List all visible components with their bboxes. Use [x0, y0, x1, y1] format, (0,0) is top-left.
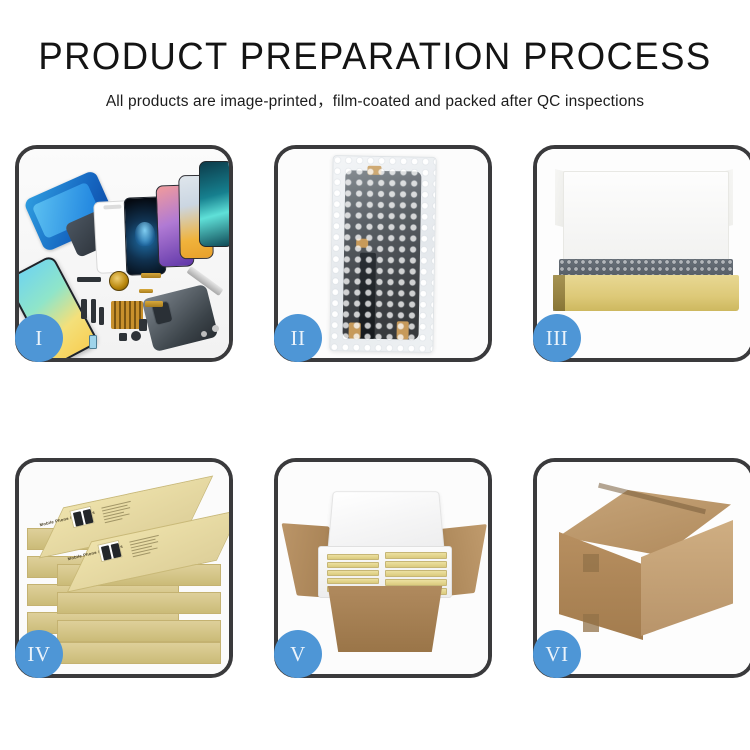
box-stack: Mobile Phone Spare Parts Mobile Phone Sp…	[27, 480, 223, 662]
spare-glass-piece	[89, 335, 97, 349]
spare-sim-tray	[139, 319, 147, 331]
teal-gradient-phone	[199, 161, 229, 247]
kraft-box-item	[327, 562, 379, 568]
step-badge-6: VI	[533, 630, 581, 678]
gold-tab	[349, 322, 361, 338]
process-step-panel-4[interactable]: Mobile Phone Spare Parts Mobile Phone Sp…	[15, 458, 233, 678]
spare-connector	[145, 301, 163, 307]
kraft-box-base	[553, 275, 739, 311]
page-subtitle: All products are image-printed，film-coat…	[0, 89, 750, 111]
speaker-coil-part	[109, 271, 129, 291]
bubble-wrap-bag	[329, 155, 436, 353]
screw-part	[201, 331, 207, 337]
page-title: PRODUCT PREPARATION PROCESS	[15, 38, 735, 78]
kraft-box-item	[327, 578, 379, 584]
step-badge-3: III	[533, 314, 581, 362]
stacked-box-edge	[57, 620, 221, 642]
spare-flex-cable	[91, 299, 96, 323]
kraft-box-item	[385, 552, 447, 559]
stacked-box-edge	[57, 642, 221, 664]
spare-flex-cable	[81, 299, 87, 319]
kraft-box-item	[327, 570, 379, 576]
gold-tab	[356, 238, 368, 247]
carton-tape-mark	[583, 614, 599, 632]
kraft-box-item	[385, 579, 447, 586]
process-step-panel-6[interactable]: VI	[533, 458, 750, 678]
step-badge-5: V	[274, 630, 322, 678]
spare-camera	[131, 331, 141, 341]
carton-tape-mark	[583, 554, 599, 572]
spare-chip	[77, 277, 101, 282]
process-step-panel-2[interactable]: II	[274, 145, 492, 362]
spare-flex-cable	[99, 307, 104, 325]
process-step-panel-5[interactable]: V	[274, 458, 492, 678]
process-steps-grid: I II	[15, 145, 745, 678]
carton-front-face	[320, 586, 450, 652]
kraft-box-item	[385, 561, 447, 568]
lcd-screen-assembly	[343, 170, 422, 339]
stacked-box-edge	[57, 592, 221, 614]
gold-tab	[397, 321, 409, 339]
process-step-panel-3[interactable]: III	[533, 145, 750, 362]
kraft-box-item	[385, 570, 447, 577]
lcd-flex-cable	[359, 252, 376, 338]
process-step-panel-1[interactable]: I	[15, 145, 233, 362]
spare-button	[119, 333, 127, 341]
screw-part	[212, 325, 219, 332]
step-badge-1: I	[15, 314, 63, 362]
kraft-box-item	[327, 554, 379, 560]
spare-chip	[141, 273, 161, 278]
phone-back-housing	[141, 284, 218, 352]
step-badge-2: II	[274, 314, 322, 362]
page-header: PRODUCT PREPARATION PROCESS All products…	[0, 0, 750, 111]
step-badge-4: IV	[15, 630, 63, 678]
spare-chip	[139, 289, 153, 293]
